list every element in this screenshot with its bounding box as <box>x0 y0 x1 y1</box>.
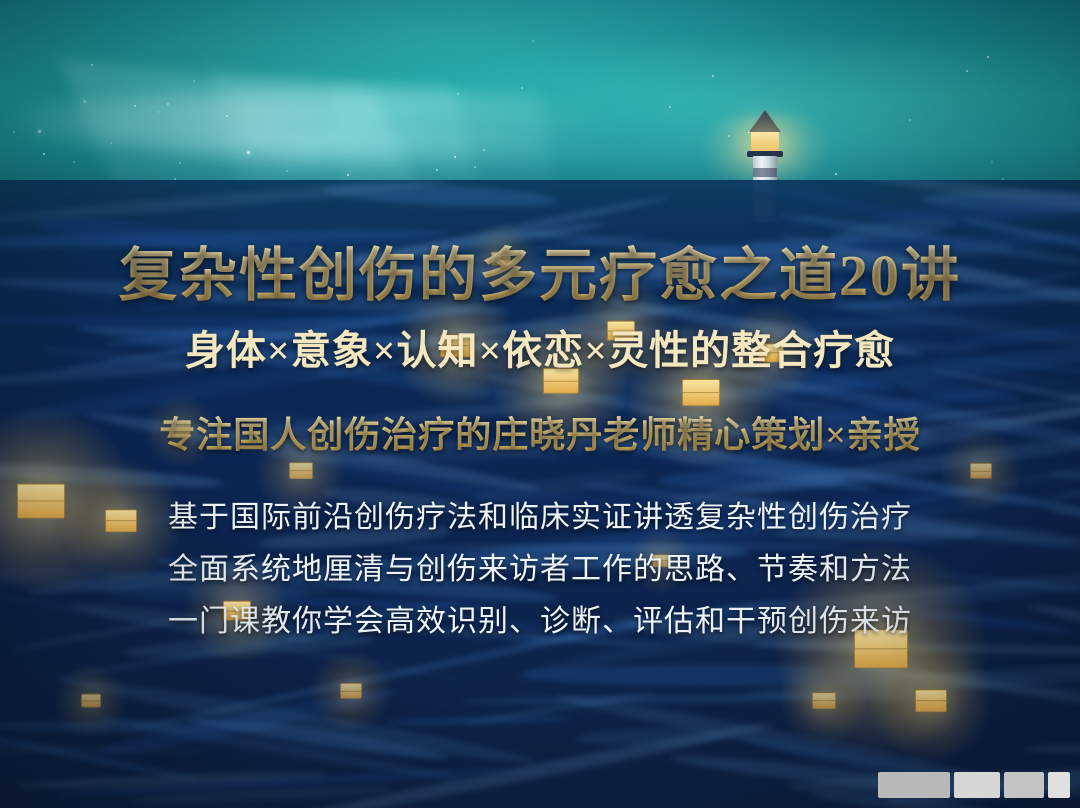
watermark-block <box>1004 772 1044 798</box>
watermark-block <box>1048 772 1070 798</box>
page-title: 复杂性创伤的多元疗愈之道20讲 <box>0 228 1080 312</box>
bullet-item: 基于国际前沿创伤疗法和临床实证讲透复杂性创伤治疗 <box>0 492 1080 544</box>
watermark-block <box>954 772 1000 798</box>
watermark-blocks <box>878 772 1070 798</box>
bullet-list: 基于国际前沿创伤疗法和临床实证讲透复杂性创伤治疗 全面系统地厘清与创伤来访者工作… <box>0 492 1080 648</box>
bullet-item: 一门课教你学会高效识别、诊断、评估和干预创伤来访 <box>0 596 1080 648</box>
bullet-item: 全面系统地厘清与创伤来访者工作的思路、节奏和方法 <box>0 544 1080 596</box>
page-subtitle: 身体×意象×认知×依恋×灵性的整合疗愈 <box>0 318 1080 376</box>
watermark-block <box>878 772 950 798</box>
text-layer: 复杂性创伤的多元疗愈之道20讲 身体×意象×认知×依恋×灵性的整合疗愈 专注国人… <box>0 0 1080 808</box>
poster-image: 复杂性创伤的多元疗愈之道20讲 身体×意象×认知×依恋×灵性的整合疗愈 专注国人… <box>0 0 1080 808</box>
presenter-line: 专注国人创伤治疗的庄晓丹老师精心策划×亲授 <box>0 406 1080 458</box>
